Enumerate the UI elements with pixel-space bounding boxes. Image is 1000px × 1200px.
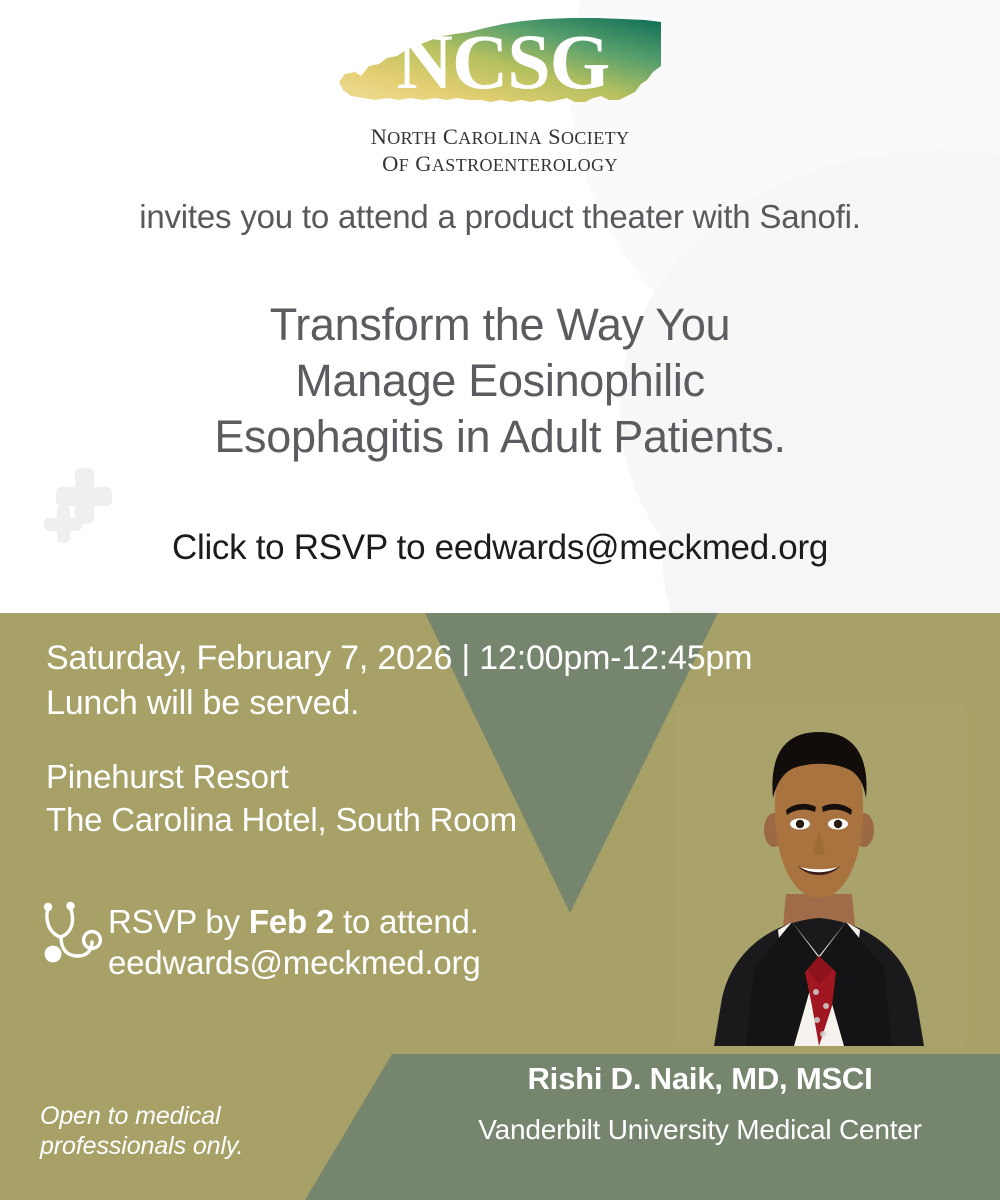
- venue-room: The Carolina Hotel, South Room: [46, 801, 517, 839]
- audience-disclaimer-line2: professionals only.: [40, 1131, 243, 1161]
- audience-disclaimer-line1: Open to medical: [40, 1101, 243, 1131]
- headline-line-3: Esophagitis in Adult Patients.: [0, 409, 1000, 465]
- invite-line: invites you to attend a product theater …: [0, 198, 1000, 236]
- invitation-flyer: NCSG NORTH CAROLINA SOCIETY OF GASTROENT…: [0, 0, 1000, 1200]
- stethoscope-icon: [36, 898, 108, 972]
- speaker-affiliation: Vanderbilt University Medical Center: [400, 1114, 1000, 1146]
- ncsg-logo-subtitle: NORTH CAROLINA SOCIETY OF GASTROENTEROLO…: [330, 124, 670, 177]
- rsvp-suffix: to attend.: [334, 903, 479, 940]
- ncsg-logo-subtitle-line1: NORTH CAROLINA SOCIETY: [330, 124, 670, 151]
- ncsg-logo: NCSG NORTH CAROLINA SOCIETY OF GASTROENT…: [0, 14, 1000, 177]
- ncsg-logo-mark-icon: NCSG: [335, 14, 665, 122]
- rsvp-deadline-date: Feb 2: [249, 903, 334, 940]
- svg-text:NCSG: NCSG: [397, 18, 610, 105]
- speaker-photo-image: [674, 706, 964, 1046]
- lunch-note: Lunch will be served.: [46, 684, 359, 723]
- audience-disclaimer: Open to medical professionals only.: [40, 1101, 243, 1161]
- rsvp-deadline-line: RSVP by Feb 2 to attend.: [108, 903, 479, 941]
- ncsg-logo-subtitle-line2: OF GASTROENTEROLOGY: [330, 151, 670, 178]
- speaker-name: Rishi D. Naik, MD, MSCI: [400, 1061, 1000, 1097]
- venue-name: Pinehurst Resort: [46, 758, 289, 796]
- rsvp-click-link[interactable]: Click to RSVP to eedwards@meckmed.org: [0, 528, 1000, 568]
- rsvp-email[interactable]: eedwards@meckmed.org: [108, 944, 481, 982]
- rsvp-prefix: RSVP by: [108, 903, 249, 940]
- headline-line-1: Transform the Way You: [0, 297, 1000, 353]
- plus-decoration-small-icon: [44, 505, 82, 543]
- page-title: Transform the Way You Manage Eosinophili…: [0, 297, 1000, 465]
- speaker-headshot: [674, 706, 964, 1046]
- event-date-time: Saturday, February 7, 2026 | 12:00pm-12:…: [46, 639, 752, 678]
- headline-line-2: Manage Eosinophilic: [0, 353, 1000, 409]
